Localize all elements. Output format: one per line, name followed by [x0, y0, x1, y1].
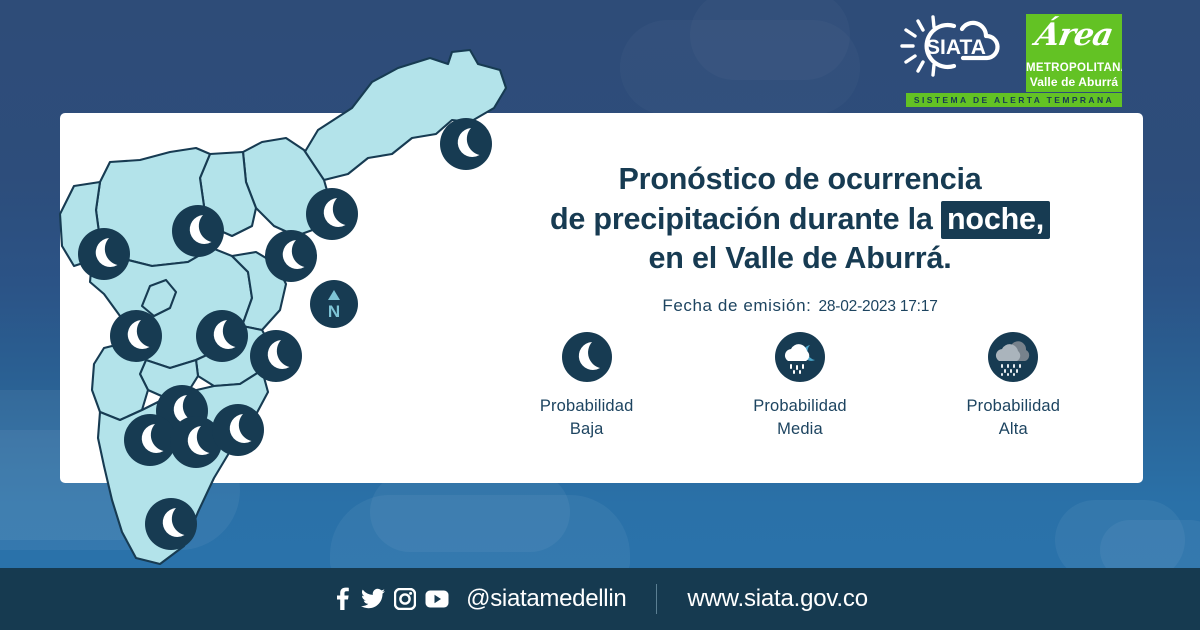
footer-divider [656, 584, 657, 614]
instagram-icon[interactable] [394, 588, 416, 610]
siata-logo: SIATA [896, 14, 1016, 78]
area-logo-script: Área [1026, 17, 1122, 53]
emission-date-value: 28-02-2023 17:17 [818, 298, 937, 316]
title-line-2-text: de precipitación durante la [550, 202, 941, 236]
legend-media-line2: Media [715, 418, 885, 441]
social-icon-group [332, 587, 449, 611]
title-line-3: en el Valle de Aburrá. [480, 239, 1120, 279]
legend-alta-line1: Probabilidad [928, 395, 1098, 418]
probability-legend: Probabilidad Baja Probabilidad Media [480, 332, 1120, 441]
title-line-2: de precipitación durante la noche, [480, 200, 1120, 240]
legend-media-line1: Probabilidad [715, 395, 885, 418]
logo-group: SIATA Área METROPOLITANA Valle de Aburrá [896, 14, 1122, 92]
legend-alta-line2: Alta [928, 418, 1098, 441]
legend-baja-line2: Baja [502, 418, 672, 441]
page-title: Pronóstico de ocurrencia de precipitació… [480, 160, 1120, 279]
emission-date-label: Fecha de emisión: [662, 296, 811, 316]
legend-label-baja: Probabilidad Baja [502, 395, 672, 441]
area-metropolitana-logo: Área METROPOLITANA Valle de Aburrá [1026, 14, 1122, 92]
legend-baja-line1: Probabilidad [502, 395, 672, 418]
background-cloud [690, 0, 850, 80]
emission-date: Fecha de emisión: 28-02-2023 17:17 [480, 296, 1120, 316]
facebook-icon[interactable] [332, 587, 352, 611]
twitter-icon[interactable] [361, 588, 385, 610]
footer-bar: @siatamedellin www.siata.gov.co [0, 568, 1200, 630]
legend-label-media: Probabilidad Media [715, 395, 885, 441]
area-logo-line1: METROPOLITANA [1026, 62, 1122, 74]
forecast-text-panel: Pronóstico de ocurrencia de precipitació… [480, 160, 1120, 316]
cloud-heavy-rain-icon [988, 332, 1038, 382]
cloud-rain-moon-icon [775, 332, 825, 382]
background-cloud [370, 472, 570, 552]
legend-item-baja: Probabilidad Baja [502, 332, 672, 441]
moon-icon [562, 332, 612, 382]
youtube-icon[interactable] [425, 590, 449, 608]
legend-label-alta: Probabilidad Alta [928, 395, 1098, 441]
social-handle[interactable]: @siatamedellin [466, 585, 626, 613]
legend-item-media: Probabilidad Media [715, 332, 885, 441]
title-highlight-noche: noche, [941, 201, 1050, 239]
siata-logo-text: SIATA [926, 36, 986, 59]
area-logo-line2: Valle de Aburrá [1026, 75, 1122, 89]
legend-item-alta: Probabilidad Alta [928, 332, 1098, 441]
website-url[interactable]: www.siata.gov.co [687, 585, 867, 613]
title-line-1: Pronóstico de ocurrencia [480, 160, 1120, 200]
green-tagline-bar: SISTEMA DE ALERTA TEMPRANA [906, 93, 1122, 107]
